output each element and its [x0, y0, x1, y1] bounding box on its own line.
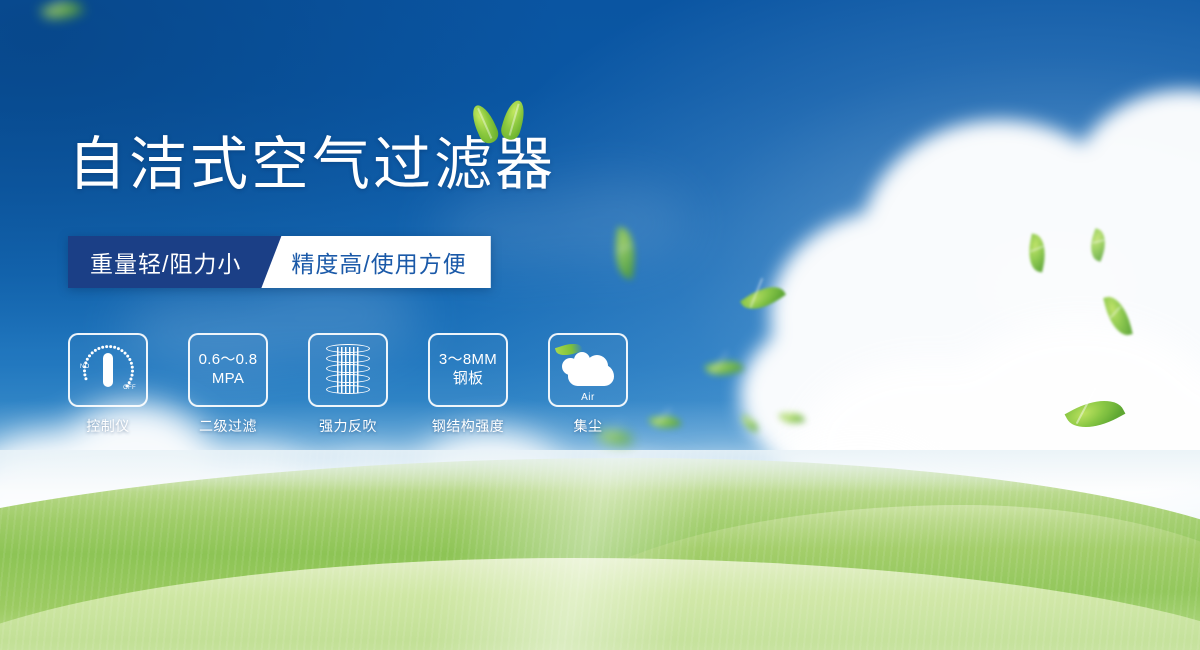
feature-label: 钢结构强度 — [432, 416, 505, 436]
feature-box — [308, 333, 388, 407]
title-block: 自洁式空气过滤器 — [68, 136, 556, 194]
feature-item-dust: Air 集尘 — [548, 333, 628, 436]
feature-label: 控制仪 — [86, 416, 130, 436]
knob-on-label: NO — [80, 364, 90, 370]
feature-box: Air — [548, 333, 628, 407]
subtitle-right-segment: 精度高/使用方便 — [261, 236, 490, 288]
feature-item-steel: 3～8MM 钢板 钢结构强度 — [428, 333, 508, 436]
feature-item-pressure: 0.6～0.8 MPA 二级过滤 — [188, 333, 268, 436]
knob-off-label: OFF — [123, 385, 136, 391]
filter-stack-icon — [326, 344, 370, 396]
sprout-leaves-icon — [468, 98, 534, 148]
pressure-value: 0.6～0.8 — [199, 351, 258, 370]
air-label: Air — [560, 392, 616, 403]
air-cloud-icon: Air — [560, 350, 616, 390]
subtitle-left-segment: 重量轻/阻力小 — [68, 236, 281, 288]
control-knob-icon: NO OFF — [80, 344, 136, 396]
pressure-text-icon: 0.6～0.8 MPA — [199, 351, 258, 389]
feature-label: 集尘 — [574, 416, 603, 436]
steel-thickness: 3～8MM — [439, 351, 497, 370]
steel-text-icon: 3～8MM 钢板 — [439, 351, 497, 389]
feature-item-blowback: 强力反吹 — [308, 333, 388, 436]
steel-material: 钢板 — [439, 370, 497, 389]
feature-label: 二级过滤 — [199, 416, 257, 436]
feature-label: 强力反吹 — [319, 416, 377, 436]
feature-item-control: NO OFF 控制仪 — [68, 333, 148, 436]
product-banner: 自洁式空气过滤器 重量轻/阻力小 精度高/使用方便 NO OFF 控制仪 0.6… — [0, 0, 1200, 650]
pressure-unit: MPA — [199, 370, 258, 389]
feature-box: NO OFF — [68, 333, 148, 407]
field-horizon-blend — [0, 450, 1200, 492]
feature-list: NO OFF 控制仪 0.6～0.8 MPA 二级过滤 — [68, 333, 628, 436]
feature-box: 3～8MM 钢板 — [428, 333, 508, 407]
subtitle-bar: 重量轻/阻力小 精度高/使用方便 — [68, 236, 491, 288]
grass-field — [0, 450, 1200, 650]
feature-box: 0.6～0.8 MPA — [188, 333, 268, 407]
